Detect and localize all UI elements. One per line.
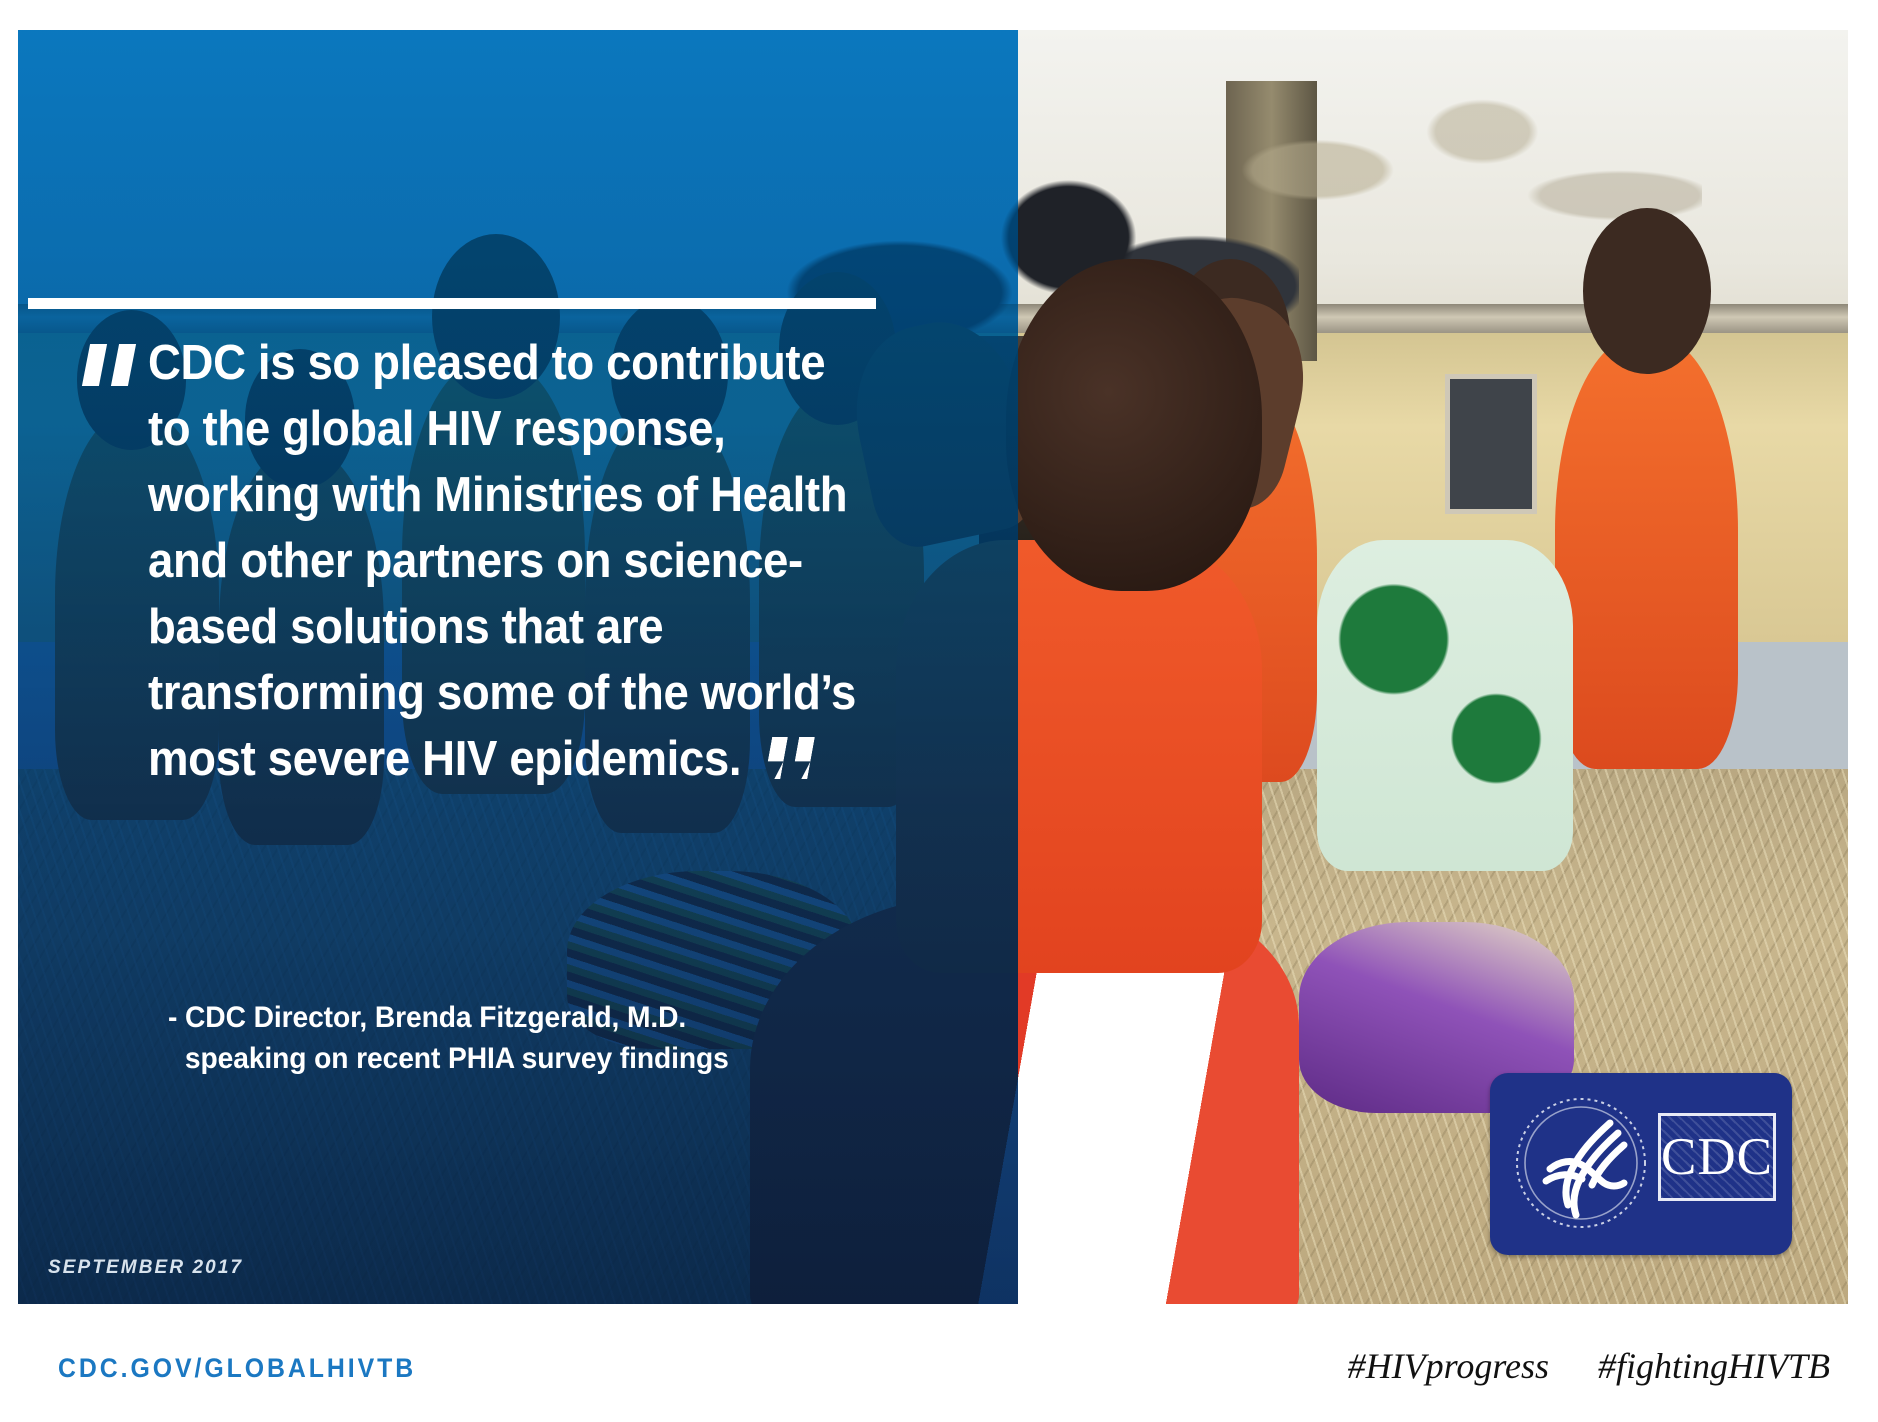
quote-line-1: CDC is so pleased to contribute xyxy=(148,330,883,396)
poster-image: CDC is so pleased to contribute to the g… xyxy=(18,30,1848,1304)
quote-line-5: based solutions that are xyxy=(148,594,883,660)
quote-line-7: most severe HIV epidemics. xyxy=(148,726,883,792)
quote-line-6: transforming some of the world’s xyxy=(148,660,883,726)
hhs-seal-icon xyxy=(1506,1087,1656,1239)
footer-url[interactable]: CDC.GOV/GLOBALHIVTB xyxy=(58,1353,416,1384)
hashtag-fightinghivtb[interactable]: #fightingHIVTB xyxy=(1598,1346,1830,1386)
attribution-line-1: - CDC Director, Brenda Fitzgerald, M.D. xyxy=(168,997,882,1038)
quote-line-3: working with Ministries of Health xyxy=(148,462,883,528)
quote-block: CDC is so pleased to contribute to the g… xyxy=(148,330,938,792)
white-divider-rule xyxy=(28,298,876,309)
quote-line-2: to the global HIV response, xyxy=(148,396,883,462)
attribution-line-2: speaking on recent PHIA survey findings xyxy=(168,1038,882,1079)
quote-line-7-text: most severe HIV epidemics. xyxy=(148,732,741,786)
quote-line-4: and other partners on science- xyxy=(148,528,883,594)
quote-attribution: - CDC Director, Brenda Fitzgerald, M.D. … xyxy=(168,997,882,1079)
footer-hashtags: #HIVprogress #fightingHIVTB xyxy=(1348,1345,1830,1387)
hashtag-hivprogress[interactable]: #HIVprogress xyxy=(1348,1346,1549,1386)
open-quote-icon xyxy=(86,344,138,390)
cdc-wordmark-text: CDC xyxy=(1661,1131,1773,1184)
photo-patterned-dress xyxy=(1317,540,1573,871)
close-quote-icon xyxy=(766,735,824,781)
date-label: SEPTEMBER 2017 xyxy=(48,1257,243,1279)
cdc-wordmark: CDC xyxy=(1658,1113,1776,1201)
photo-person-head xyxy=(1583,208,1711,374)
cdc-hhs-logo: CDC xyxy=(1490,1073,1792,1255)
photo-person xyxy=(1555,336,1738,769)
photo-subject-head xyxy=(1006,259,1262,590)
